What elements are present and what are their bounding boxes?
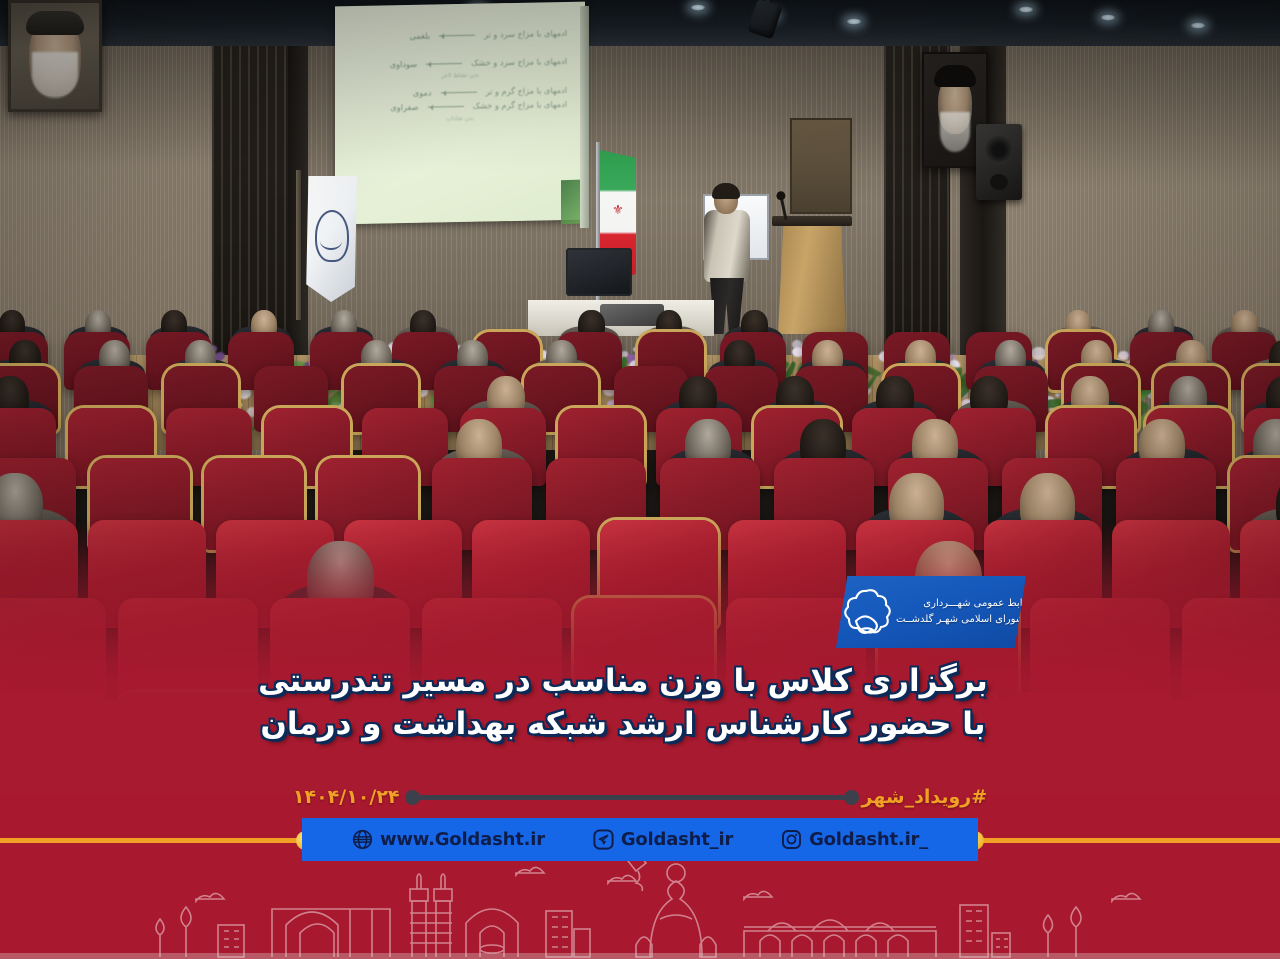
eitaa-label: Goldasht_ir [621,829,733,850]
hashtag-date-row: #رویداد_شهر ۱۴۰۴/۱۰/۲۴ [0,780,1280,814]
footer-item-eitaa[interactable]: Goldasht_ir [593,829,733,850]
footer-item-instagram[interactable]: Goldasht.ir_ [781,829,928,850]
rail-left [0,838,302,843]
footer-item-website[interactable]: www.Goldasht.ir [352,829,545,850]
badge-line-2: و شورای اسلامی شهـر گلدشــت [896,612,1032,628]
rail-right [978,838,1280,843]
event-poster: ادمهای با مزاج سرد و تر بلغمی ادمهای با … [0,0,1280,959]
title-line-2: با حضور کارشناس ارشد شبکه بهداشت و درمان [0,703,1246,746]
isfahan-skyline-illustration [0,849,1280,959]
hashtag-label: #رویداد_شهر [862,786,988,808]
badge-line-1: روابط عمومی شهـــرداری [896,596,1032,612]
poster-title: برگزاری کلاس با وزن مناسب در مسیر تندرست… [0,660,1280,746]
instagram-label: Goldasht.ir_ [809,829,928,850]
website-label: www.Goldasht.ir [380,829,545,850]
eitaa-icon [593,829,614,850]
instagram-icon [781,829,802,850]
title-line-1: برگزاری کلاس با وزن مناسب در مسیر تندرست… [0,660,1246,703]
bottom-divider [0,953,1280,959]
organization-logo-badge: روابط عمومی شهـــرداری و شورای اسلامی شه… [836,576,1026,648]
globe-icon [352,829,373,850]
connector-line [412,795,852,800]
badge-text-block: روابط عمومی شهـــرداری و شورای اسلامی شه… [896,596,1032,628]
event-date: ۱۴۰۴/۱۰/۲۴ [293,786,400,808]
flower-tree-emblem-icon [840,585,892,639]
contact-footer-bar: www.Goldasht.ir Goldasht_ir Goldasht.ir_ [302,818,978,861]
